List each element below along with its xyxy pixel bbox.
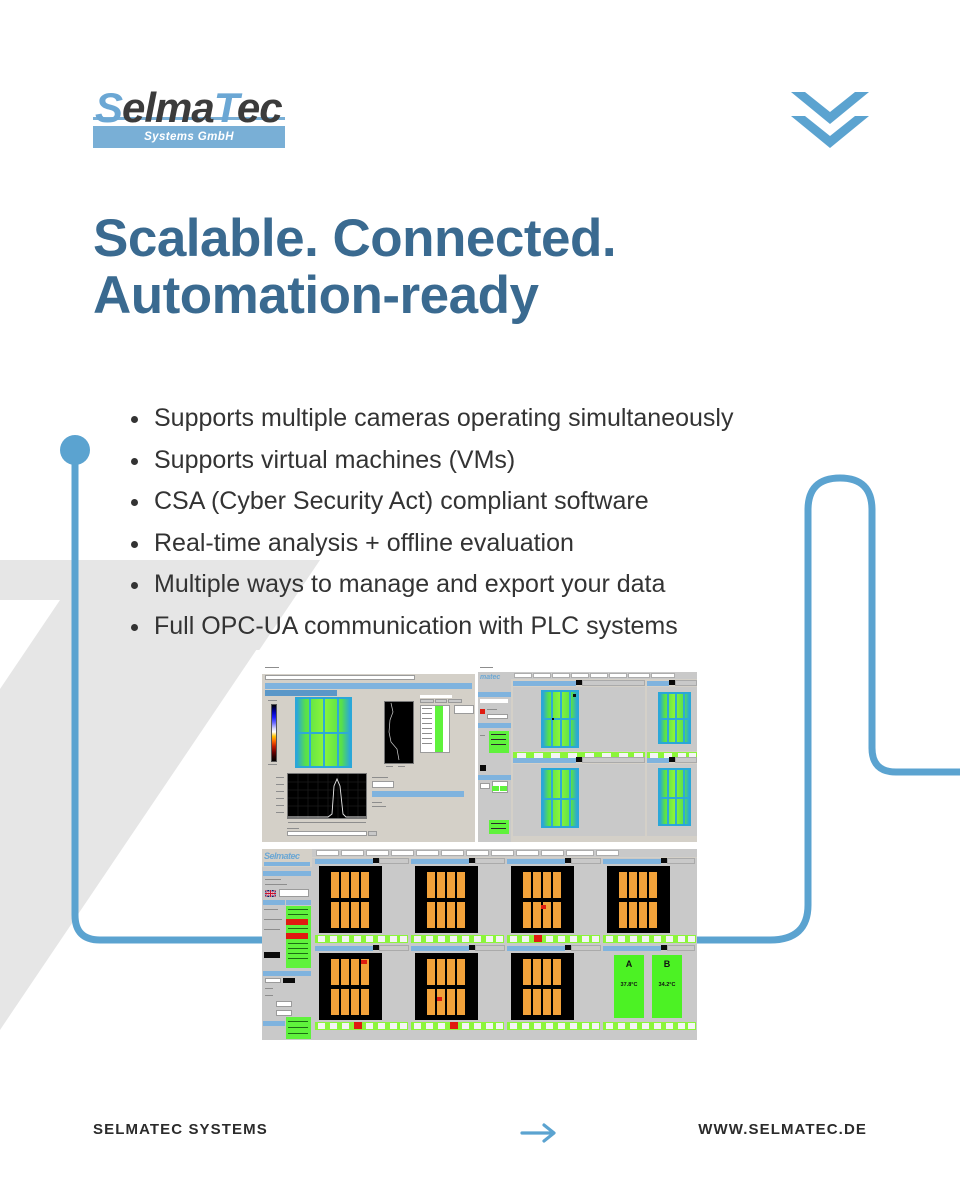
temperature-label-b: B bbox=[664, 959, 671, 969]
footer-website-url[interactable]: WWW.SELMATEC.DE bbox=[698, 1121, 867, 1138]
temperature-value-b: 34.2°C bbox=[659, 982, 676, 988]
uk-flag-icon bbox=[265, 890, 276, 897]
footer-company-name: SELMATEC SYSTEMS bbox=[93, 1121, 268, 1138]
temperature-cell-b: B 34.2°C bbox=[652, 955, 682, 1018]
connector-endpoint-dot bbox=[60, 435, 90, 465]
temperature-label-a: A bbox=[626, 959, 633, 969]
arrow-right-icon bbox=[520, 1120, 562, 1151]
temperature-value-a: 37.8°C bbox=[621, 982, 638, 988]
screenshot-production-window[interactable]: Selmatec bbox=[262, 849, 697, 1040]
vertical-profile-chart bbox=[384, 701, 414, 764]
thermal-colorbar bbox=[271, 704, 277, 762]
connector-path-right bbox=[770, 478, 960, 940]
poster-root: SelmaTec Systems GmbH Scalable. Connecte… bbox=[0, 0, 960, 1200]
temperature-cell-a: A 37.8°C bbox=[614, 955, 644, 1018]
software-screenshot-collage[interactable]: matec bbox=[262, 665, 697, 1040]
thermal-image-main bbox=[295, 697, 352, 768]
screenshot-multicamera-window[interactable]: matec bbox=[478, 665, 697, 842]
screenshot-analysis-window[interactable] bbox=[262, 665, 475, 842]
histogram-chart bbox=[287, 773, 367, 819]
